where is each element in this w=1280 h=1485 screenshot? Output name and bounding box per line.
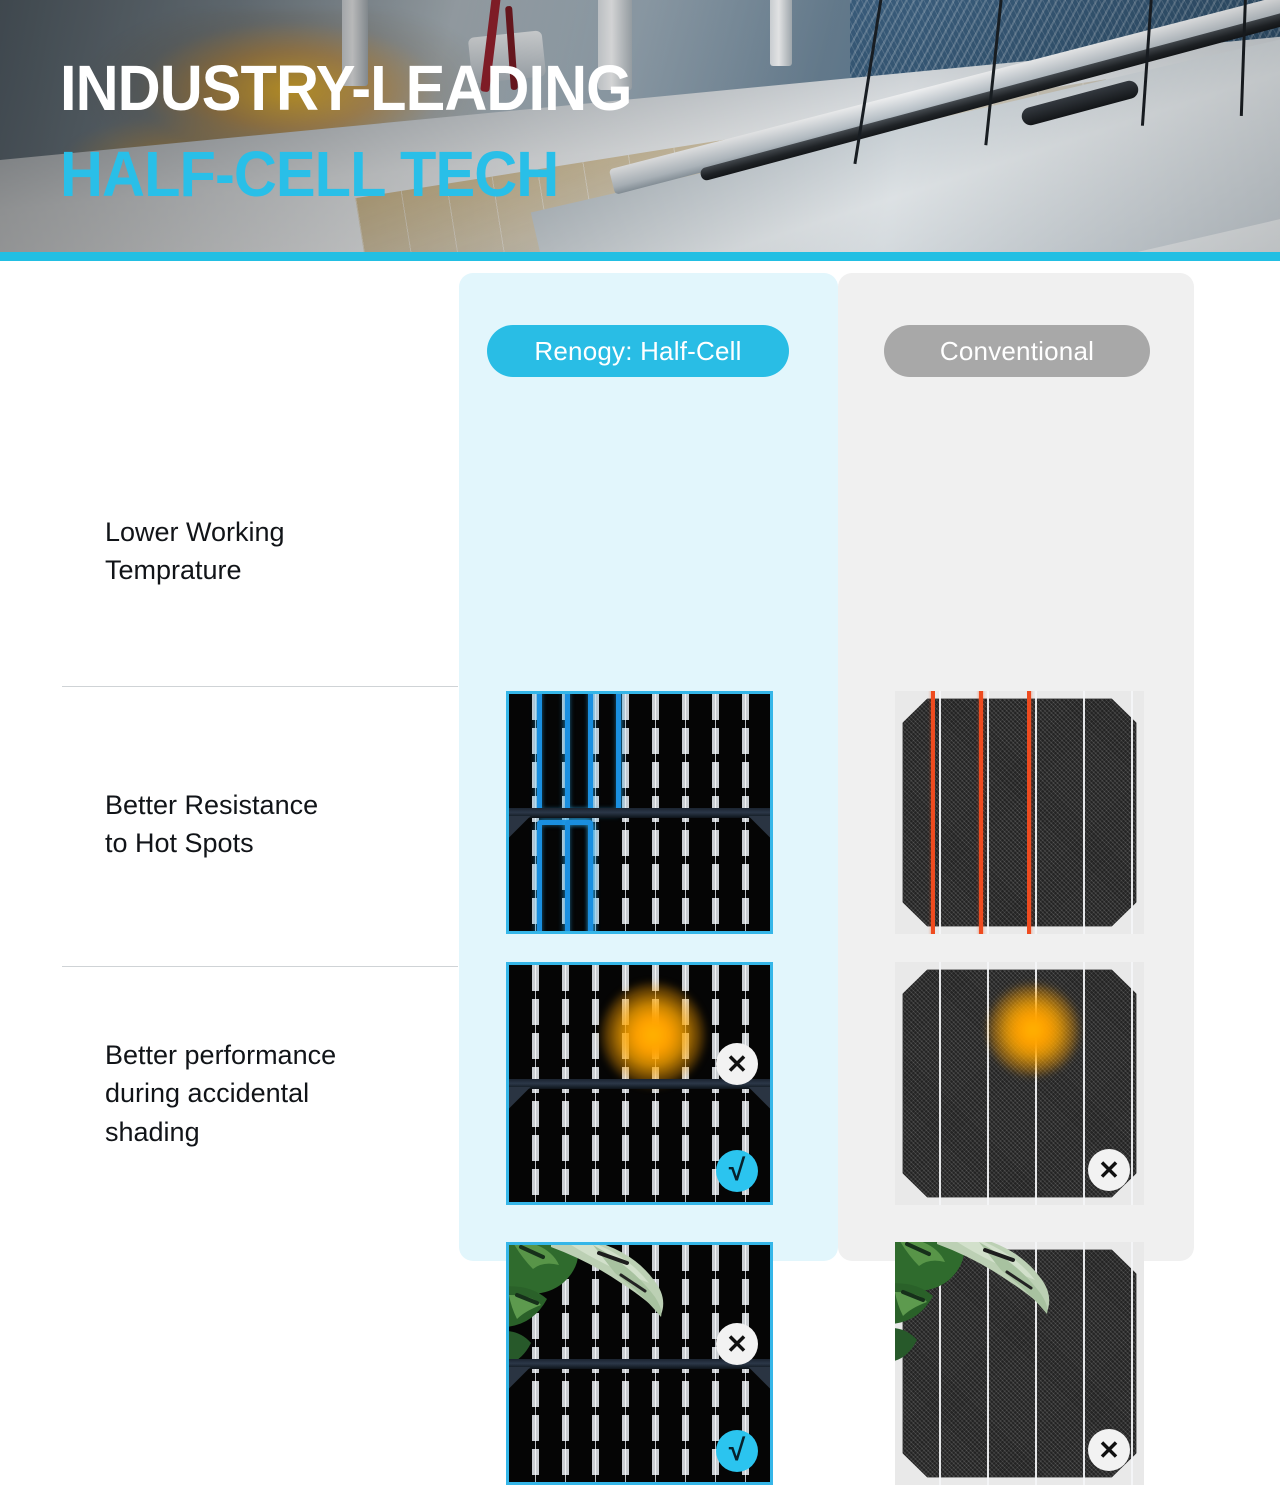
x-badge: ✕: [1088, 1429, 1130, 1471]
row-label-temperature: Lower WorkingTemprature: [105, 513, 455, 590]
column-header-half-cell: Renogy: Half-Cell: [487, 325, 789, 377]
x-badge: ✕: [1088, 1149, 1130, 1191]
current-path-1: [931, 691, 983, 934]
leaf-shading-overlay: [895, 1242, 1079, 1366]
x-badge: ✕: [716, 1323, 758, 1365]
hot-spot-glow: [601, 983, 705, 1087]
check-badge: √: [716, 1150, 758, 1192]
check-badge: √: [716, 1430, 758, 1472]
column-header-conventional: Conventional: [884, 325, 1150, 377]
current-path-bottom-2: [565, 820, 593, 934]
row-label-hot-spots: Better Resistanceto Hot Spots: [105, 786, 455, 863]
comparison-section: Renogy: Half-Cell Conventional Lower Wor…: [0, 261, 1280, 1280]
current-path-top-2: [565, 691, 621, 814]
hero-headline: INDUSTRY-LEADING HALF-CELL TECH: [60, 56, 675, 206]
cell-image-conventional-hotspot: ✕: [895, 962, 1144, 1205]
headline-line-2: HALF-CELL TECH: [60, 142, 632, 206]
x-badge: ✕: [716, 1043, 758, 1085]
row-label-shading: Better performanceduring accidentalshadi…: [105, 1036, 455, 1151]
current-path-2: [979, 691, 1031, 934]
cell-image-half-shading: ✕ √: [506, 1242, 773, 1485]
headline-line-1: INDUSTRY-LEADING: [60, 56, 632, 120]
cell-image-conventional-temperature: [895, 691, 1144, 934]
leaf-shading-overlay: [506, 1242, 693, 1369]
cell-image-conventional-shading: ✕: [895, 1242, 1144, 1485]
accent-divider-bar: [0, 252, 1280, 261]
cell-image-half-temperature: [506, 691, 773, 934]
hot-spot-glow: [987, 984, 1079, 1076]
hero-banner: INDUSTRY-LEADING HALF-CELL TECH: [0, 0, 1280, 252]
row-divider-2: [62, 966, 458, 967]
half-cell-split-line: [509, 808, 770, 818]
cell-image-half-hotspot: ✕ √: [506, 962, 773, 1205]
row-divider-1: [62, 686, 458, 687]
